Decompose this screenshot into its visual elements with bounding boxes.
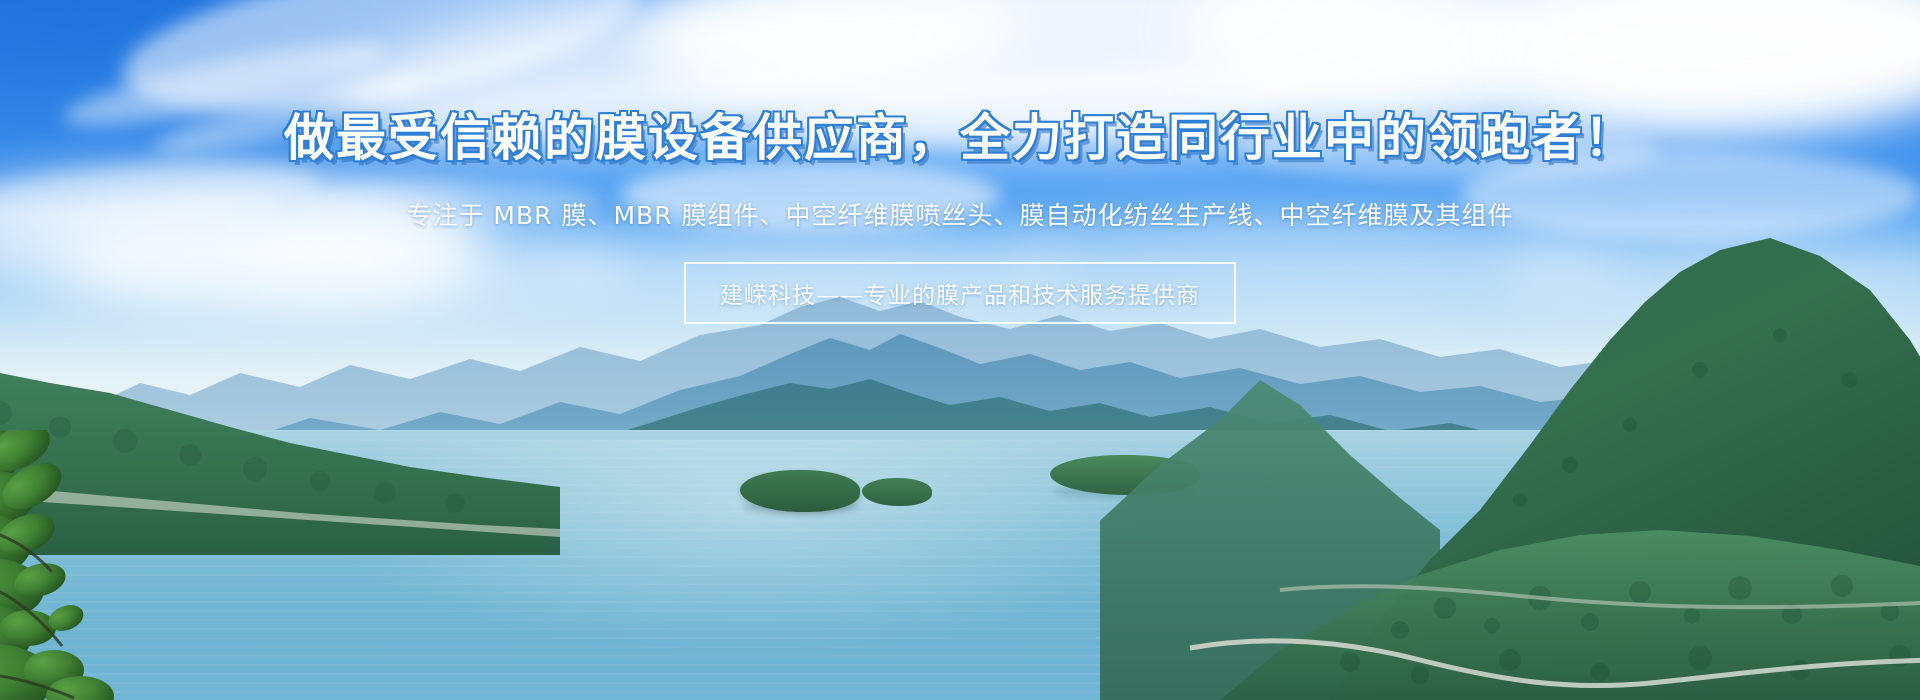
island-shape: [862, 478, 932, 506]
hero-banner: 做最受信赖的膜设备供应商，全力打造同行业中的领跑者！ 专注于 MBR 膜、MBR…: [0, 0, 1920, 700]
island-shape: [740, 470, 860, 512]
banner-tagline-box[interactable]: 建嵘科技——专业的膜产品和技术服务提供商: [684, 262, 1236, 324]
foreground-tree-branch: [0, 430, 230, 700]
cloud-shape: [1460, 150, 1920, 240]
cloud-shape: [620, 160, 1000, 230]
